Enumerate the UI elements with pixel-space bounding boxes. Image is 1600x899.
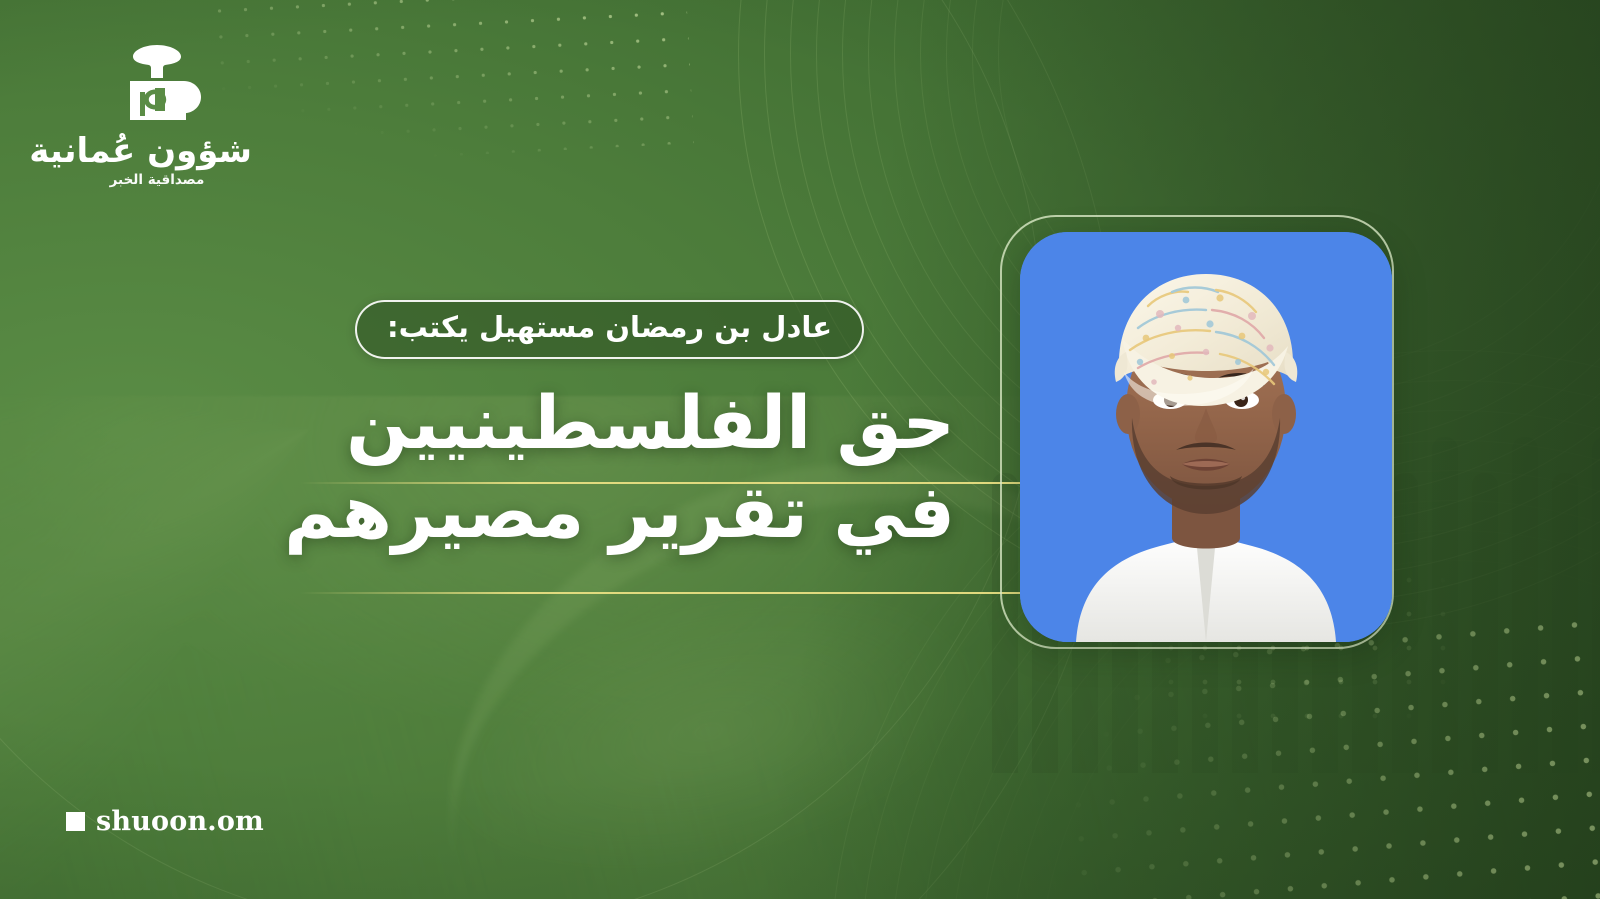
- brand-tagline: مصداقية الخبر: [62, 172, 252, 188]
- author-portrait: [1020, 232, 1392, 642]
- portrait-illustration: [1020, 232, 1392, 642]
- page-title: حق الفلسطينيين في تقرير مصيرهم: [355, 379, 955, 557]
- title-line-2: في تقرير مصيرهم: [355, 468, 955, 557]
- author-byline: عادل بن رمضان مستهيل يكتب:: [355, 300, 864, 359]
- brand-name: شؤون عُمانية: [62, 134, 252, 170]
- square-bullet-icon: [66, 812, 85, 831]
- article-card: شؤون عُمانية مصداقية الخبر عادل بن رمضان…: [0, 0, 1600, 899]
- website-url: shuoon.om: [96, 806, 264, 837]
- brand-logo[interactable]: شؤون عُمانية مصداقية الخبر: [62, 42, 252, 188]
- headline-block: عادل بن رمضان مستهيل يكتب: حق الفلسطينيي…: [355, 300, 955, 557]
- site-footer[interactable]: shuoon.om: [66, 806, 264, 837]
- title-line-1: حق الفلسطينيين: [355, 379, 955, 468]
- incense-burner-icon: [62, 42, 252, 128]
